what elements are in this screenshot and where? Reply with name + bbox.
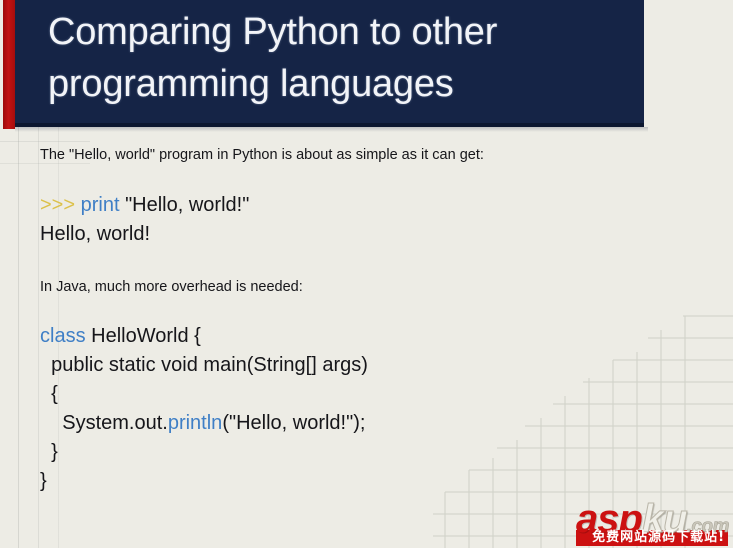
- java-code-block: class HelloWorld { public static void ma…: [40, 322, 368, 496]
- header-accent-bar: [3, 0, 15, 129]
- slide-body: The "Hello, world" program in Python is …: [0, 132, 733, 548]
- slide-title: Comparing Python to other programming la…: [48, 6, 633, 110]
- python-string-argument: "Hello, world!": [120, 194, 250, 216]
- java-class-declaration: HelloWorld {: [86, 325, 201, 347]
- python-output-line: Hello, world!: [40, 223, 150, 245]
- python-prompt-token: >>>: [40, 194, 75, 216]
- java-close-brace-inner: }: [40, 441, 58, 463]
- java-main-signature: public static void main(String[] args): [40, 354, 368, 376]
- java-keyword-println: println: [168, 412, 222, 434]
- java-open-brace-inner: {: [40, 383, 58, 405]
- python-keyword-print: print: [81, 194, 120, 216]
- java-close-brace-outer: }: [40, 470, 47, 492]
- java-println-argument: ("Hello, world!");: [222, 412, 365, 434]
- watermark-logo: aspku.com 免费网站源码下载站!: [576, 499, 729, 546]
- python-intro-text: The "Hello, world" program in Python is …: [40, 146, 484, 164]
- watermark-tagline: 免费网站源码下载站!: [576, 530, 728, 546]
- slide-canvas: Comparing Python to other programming la…: [0, 0, 733, 548]
- python-code-block: >>> print "Hello, world!" Hello, world!: [40, 191, 249, 249]
- java-println-prefix: System.out.: [40, 412, 168, 434]
- java-keyword-class: class: [40, 325, 86, 347]
- java-intro-text: In Java, much more overhead is needed:: [40, 278, 303, 296]
